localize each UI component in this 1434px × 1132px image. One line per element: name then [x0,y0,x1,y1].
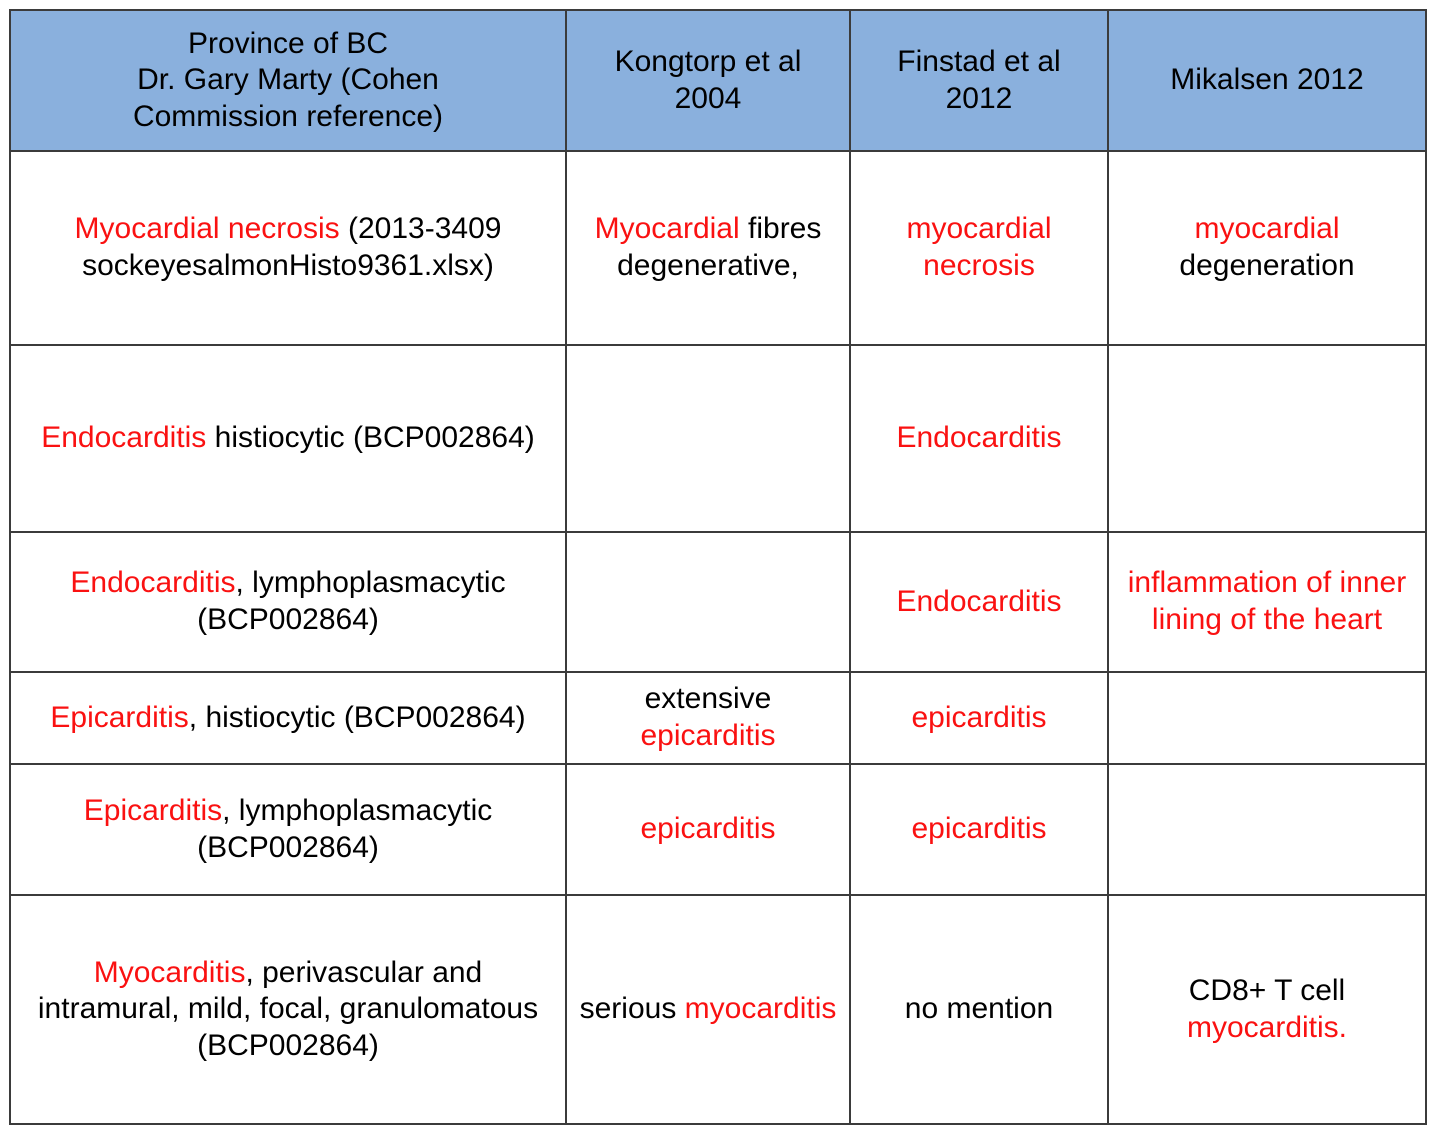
cell-text: CD8+ T cell [1189,974,1345,1007]
cell-finstad-epicarditis-2: epicarditis [850,764,1108,895]
cell-finstad-epicarditis-1: epicarditis [850,672,1108,764]
cell-mikalsen-cd8-t-cell: CD8+ T cell myocarditis. [1108,895,1426,1124]
cell-kongtorp-myocardial-fibres: Myocardial fibres degenerative, [566,151,850,345]
cell-finstad-endocarditis-2: Endocarditis [850,532,1108,672]
highlighted-term: epicarditis [911,812,1046,845]
cell-finstad-no-mention: no mention [850,895,1108,1124]
cell-kongtorp-extensive-epicarditis: extensive epicarditis [566,672,850,764]
cell-mikalsen-empty-1 [1108,345,1426,532]
highlighted-term: myocarditis. [1187,1011,1347,1044]
highlighted-term: Myocarditis [94,956,246,989]
table-row: Epicarditis, lymphoplasmacytic (BCP00286… [10,764,1426,895]
cell-finstad-endocarditis-1: Endocarditis [850,345,1108,532]
cell-text: histiocytic (BCP002864) [206,421,534,454]
header-line: Finstad et al [859,44,1099,81]
header-line: Mikalsen 2012 [1117,62,1417,99]
highlighted-term: Endocarditis [41,421,206,454]
highlighted-term: myocardial [1194,212,1339,245]
highlighted-term: Myocardial [595,212,740,245]
cell-text: no mention [905,992,1053,1025]
column-header-finstad: Finstad et al2012 [850,10,1108,151]
table-row: Epicarditis, histiocytic (BCP002864) ext… [10,672,1426,764]
cell-bc-myocarditis: Myocarditis, perivascular and intramural… [10,895,566,1124]
highlighted-term: epicarditis [911,701,1046,734]
cell-bc-epicarditis-lymphoplasmacytic: Epicarditis, lymphoplasmacytic (BCP00286… [10,764,566,895]
column-header-province-bc: Province of BCDr. Gary Marty (CohenCommi… [10,10,566,151]
table-row: Myocarditis, perivascular and intramural… [10,895,1426,1124]
cell-mikalsen-empty-3 [1108,764,1426,895]
cell-bc-endocarditis-histiocytic: Endocarditis histiocytic (BCP002864) [10,345,566,532]
cell-mikalsen-inflammation: inflammation of inner lining of the hear… [1108,532,1426,672]
cell-kongtorp-serious-myocarditis: serious myocarditis [566,895,850,1124]
column-header-mikalsen: Mikalsen 2012 [1108,10,1426,151]
comparison-table-container: Province of BCDr. Gary Marty (CohenCommi… [9,9,1425,1123]
cell-text: , lymphoplasmacytic (BCP002864) [197,566,505,636]
cell-kongtorp-empty-1 [566,345,850,532]
highlighted-term: Epicarditis [50,701,188,734]
highlighted-term: myocardial necrosis [906,212,1051,282]
highlighted-term: inflammation of inner lining of the hear… [1128,566,1406,636]
highlighted-term: Endocarditis [896,421,1061,454]
cell-text: , histiocytic (BCP002864) [189,701,526,734]
highlighted-term: Endocarditis [70,566,235,599]
disease-comparison-table: Province of BCDr. Gary Marty (CohenCommi… [9,9,1427,1125]
table-header: Province of BCDr. Gary Marty (CohenCommi… [10,10,1426,151]
table-body: Myocardial necrosis (2013-3409 sockeyesa… [10,151,1426,1124]
highlighted-term: epicarditis [640,812,775,845]
header-line: 2012 [859,81,1099,118]
cell-text: serious [580,992,685,1025]
cell-mikalsen-myocardial-degeneration: myocardial degeneration [1108,151,1426,345]
cell-bc-epicarditis-histiocytic: Epicarditis, histiocytic (BCP002864) [10,672,566,764]
cell-bc-endocarditis-lymphoplasmacytic: Endocarditis, lymphoplasmacytic (BCP0028… [10,532,566,672]
highlighted-term: myocarditis [685,992,837,1025]
column-header-kongtorp: Kongtorp et al2004 [566,10,850,151]
header-line: 2004 [575,81,841,118]
table-row: Endocarditis histiocytic (BCP002864) End… [10,345,1426,532]
cell-mikalsen-empty-2 [1108,672,1426,764]
cell-kongtorp-empty-2 [566,532,850,672]
cell-finstad-myocardial-necrosis: myocardial necrosis [850,151,1108,345]
cell-bc-myocardial-necrosis: Myocardial necrosis (2013-3409 sockeyesa… [10,151,566,345]
highlighted-term: Epicarditis [84,794,222,827]
header-line: Province of BC [19,26,557,63]
header-row: Province of BCDr. Gary Marty (CohenCommi… [10,10,1426,151]
highlighted-term: epicarditis [640,719,775,752]
highlighted-term: Myocardial necrosis [75,212,340,245]
cell-text: , lymphoplasmacytic (BCP002864) [197,794,492,864]
cell-text: extensive [645,682,772,715]
header-line: Dr. Gary Marty (Cohen [19,62,557,99]
cell-kongtorp-epicarditis: epicarditis [566,764,850,895]
table-row: Endocarditis, lymphoplasmacytic (BCP0028… [10,532,1426,672]
highlighted-term: Endocarditis [896,585,1061,618]
header-line: Kongtorp et al [575,44,841,81]
cell-text: degeneration [1179,249,1354,282]
header-line: Commission reference) [19,99,557,136]
table-row: Myocardial necrosis (2013-3409 sockeyesa… [10,151,1426,345]
